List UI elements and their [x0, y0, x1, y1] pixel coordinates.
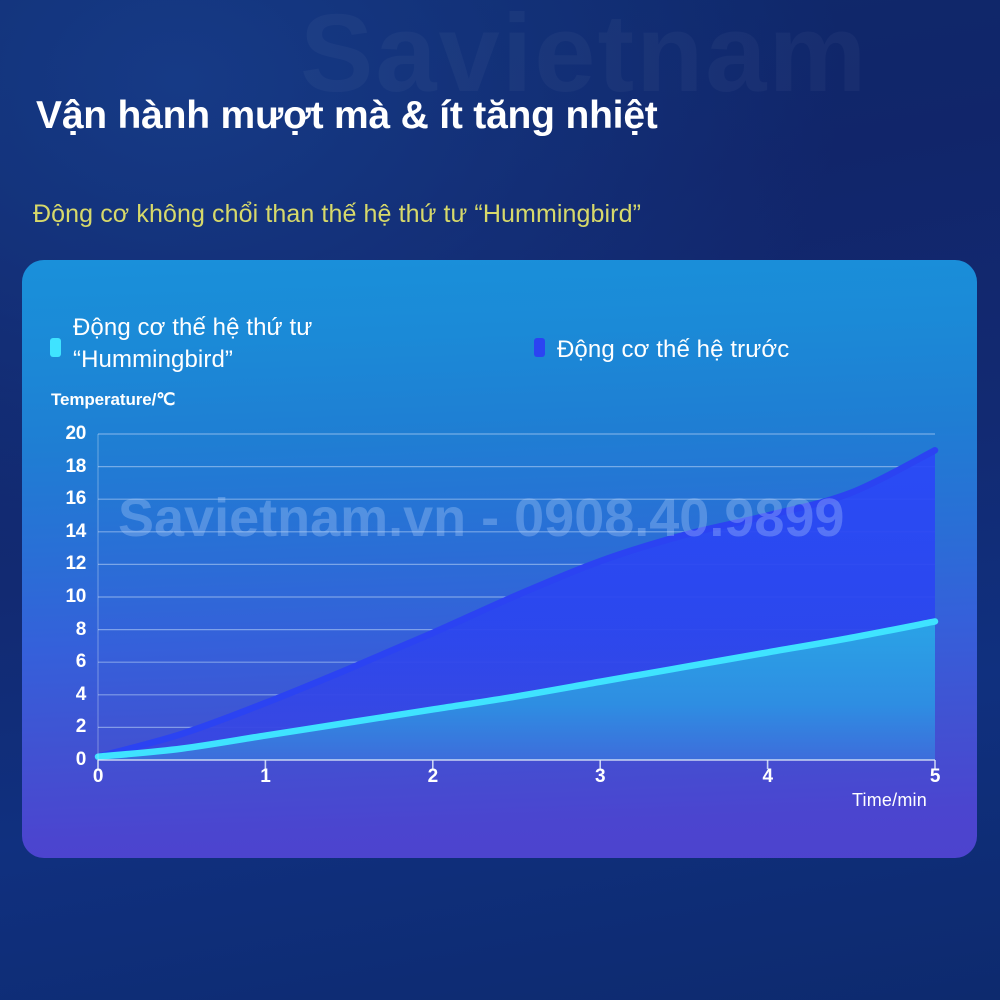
y-axis-tick-label: 20	[42, 423, 86, 445]
legend-swatch-old-motor	[534, 338, 545, 357]
y-axis-tick-label: 16	[42, 488, 86, 510]
page-title: Vận hành mượt mà & ít tăng nhiệt	[36, 94, 658, 138]
x-axis-tick-label: 0	[83, 766, 113, 788]
y-axis-tick-label: 2	[42, 716, 86, 738]
x-axis-tick-label: 3	[585, 766, 615, 788]
legend-item-old-motor: Động cơ thế hệ trước	[534, 334, 789, 366]
y-axis-tick-label: 0	[42, 749, 86, 771]
legend-swatch-new-motor	[50, 338, 61, 357]
y-axis-tick-label: 18	[42, 456, 86, 478]
x-axis-tick-label: 5	[920, 766, 950, 788]
y-axis-title: Temperature/℃	[51, 390, 175, 410]
x-axis-tick-label: 4	[753, 766, 783, 788]
x-axis-title: Time/min	[852, 790, 927, 811]
legend-label-new-motor: Động cơ thế hệ thứ tư “Hummingbird”	[73, 312, 312, 377]
y-axis-tick-label: 8	[42, 619, 86, 641]
y-axis-tick-label: 10	[42, 586, 86, 608]
legend-item-new-motor: Động cơ thế hệ thứ tư “Hummingbird”	[50, 312, 312, 377]
y-axis-tick-label: 14	[42, 521, 86, 543]
y-axis-tick-label: 12	[42, 553, 86, 575]
y-axis-tick-label: 4	[42, 684, 86, 706]
y-axis-tick-label: 6	[42, 651, 86, 673]
legend-label-old-motor: Động cơ thế hệ trước	[557, 334, 789, 366]
x-axis-tick-label: 1	[250, 766, 280, 788]
x-axis-tick-label: 2	[418, 766, 448, 788]
page-subtitle: Động cơ không chổi than thế hệ thứ tư “H…	[33, 200, 641, 229]
